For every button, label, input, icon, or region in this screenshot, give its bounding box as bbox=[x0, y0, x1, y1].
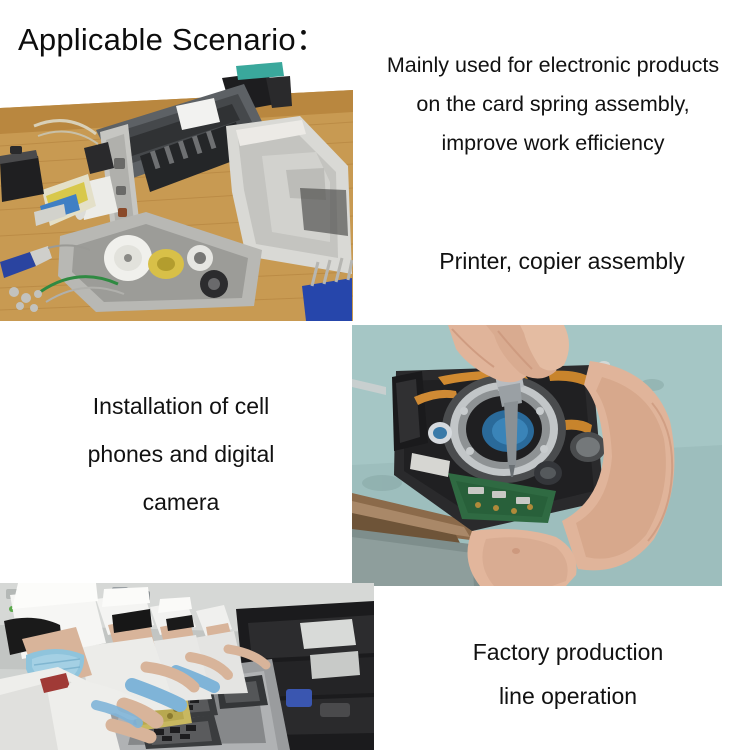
photo-printer-repair bbox=[0, 60, 353, 321]
page-title: Applicable Scenario： bbox=[18, 14, 327, 59]
caption-phone-camera-line-1: Installation of cell bbox=[8, 382, 354, 430]
caption-factory-line-1: Factory production bbox=[386, 630, 750, 674]
intro-line-1: Mainly used for electronic products bbox=[356, 46, 750, 85]
caption-printer-line-1: Printer, copier assembly bbox=[374, 244, 750, 278]
camera-repair-illustration bbox=[352, 325, 722, 586]
factory-line-illustration bbox=[0, 583, 374, 750]
caption-phone-camera-line-3: camera bbox=[8, 478, 354, 526]
caption-printer-assembly: Printer, copier assembly bbox=[374, 244, 750, 278]
caption-phone-camera-installation: Installation of cell phones and digital … bbox=[8, 382, 354, 526]
scenario-collage: Applicable Scenario： bbox=[0, 0, 750, 750]
caption-phone-camera-line-2: phones and digital bbox=[8, 430, 354, 478]
photo-camera-repair bbox=[352, 325, 722, 586]
photo-factory-line bbox=[0, 583, 374, 750]
caption-factory-line-2: line operation bbox=[386, 674, 750, 718]
printer-repair-illustration bbox=[0, 60, 353, 321]
intro-line-2: on the card spring assembly, bbox=[356, 85, 750, 124]
caption-factory-production: Factory production line operation bbox=[386, 630, 750, 718]
intro-line-3: improve work efficiency bbox=[356, 124, 750, 163]
intro-paragraph: Mainly used for electronic products on t… bbox=[356, 46, 750, 163]
